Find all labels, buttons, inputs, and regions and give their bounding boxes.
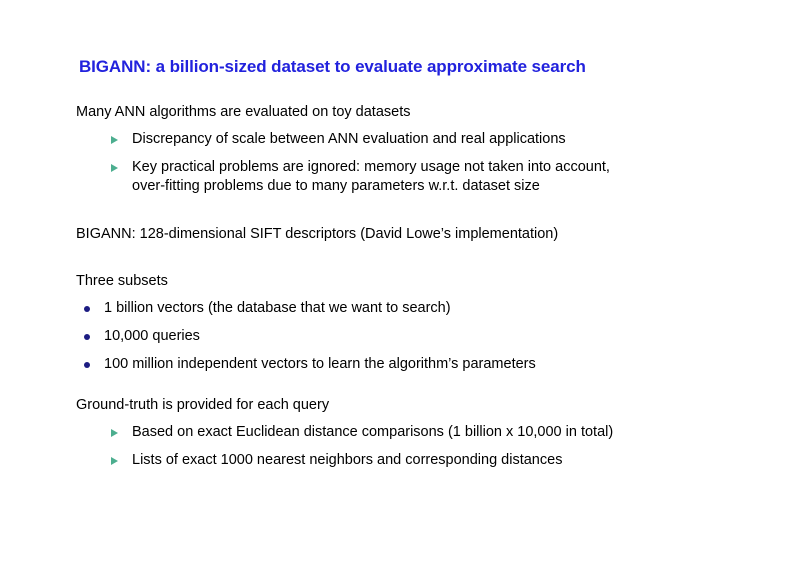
spacer (76, 243, 736, 273)
subsets-bullet-list: 1 billion vectors (the database that we … (76, 299, 736, 374)
spacer (76, 196, 736, 226)
list-item-text: 10,000 queries (104, 328, 200, 344)
slide-title: BIGANN: a billion-sized dataset to evalu… (79, 57, 586, 77)
slide-body: Many ANN algorithms are evaluated on toy… (76, 104, 736, 470)
list-item-text: Based on exact Euclidean distance compar… (132, 424, 613, 440)
list-item-text-continuation: over-fitting problems due to many parame… (132, 177, 736, 196)
list-item: 10,000 queries (76, 327, 736, 346)
list-item: Key practical problems are ignored: memo… (76, 158, 736, 196)
list-item-text: 100 million independent vectors to learn… (104, 356, 536, 372)
list-item: 1 billion vectors (the database that we … (76, 299, 736, 318)
intro-sub-bullet-list: Discrepancy of scale between ANN evaluat… (76, 130, 736, 196)
list-item-text: Key practical problems are ignored: memo… (132, 159, 610, 175)
list-item-text: 1 billion vectors (the database that we … (104, 300, 451, 316)
ground-truth-heading: Ground-truth is provided for each query (76, 397, 736, 414)
ground-truth-sub-bullet-list: Based on exact Euclidean distance compar… (76, 423, 736, 470)
list-item-text: Discrepancy of scale between ANN evaluat… (132, 131, 566, 147)
list-item: Based on exact Euclidean distance compar… (76, 423, 736, 442)
round-bullet-icon (84, 306, 90, 312)
slide-canvas: BIGANN: a billion-sized dataset to evalu… (0, 0, 800, 565)
list-item-text: Lists of exact 1000 nearest neighbors an… (132, 452, 562, 468)
list-item: 100 million independent vectors to learn… (76, 355, 736, 374)
list-item: Discrepancy of scale between ANN evaluat… (76, 130, 736, 149)
spacer (76, 374, 736, 397)
intro-heading: Many ANN algorithms are evaluated on toy… (76, 104, 736, 121)
triangle-bullet-icon (111, 457, 118, 465)
round-bullet-icon (84, 334, 90, 340)
descriptors-text: BIGANN: 128-dimensional SIFT descriptors… (76, 226, 736, 243)
triangle-bullet-icon (111, 164, 118, 172)
subsets-heading: Three subsets (76, 273, 736, 290)
round-bullet-icon (84, 362, 90, 368)
triangle-bullet-icon (111, 136, 118, 144)
list-item: Lists of exact 1000 nearest neighbors an… (76, 451, 736, 470)
triangle-bullet-icon (111, 429, 118, 437)
